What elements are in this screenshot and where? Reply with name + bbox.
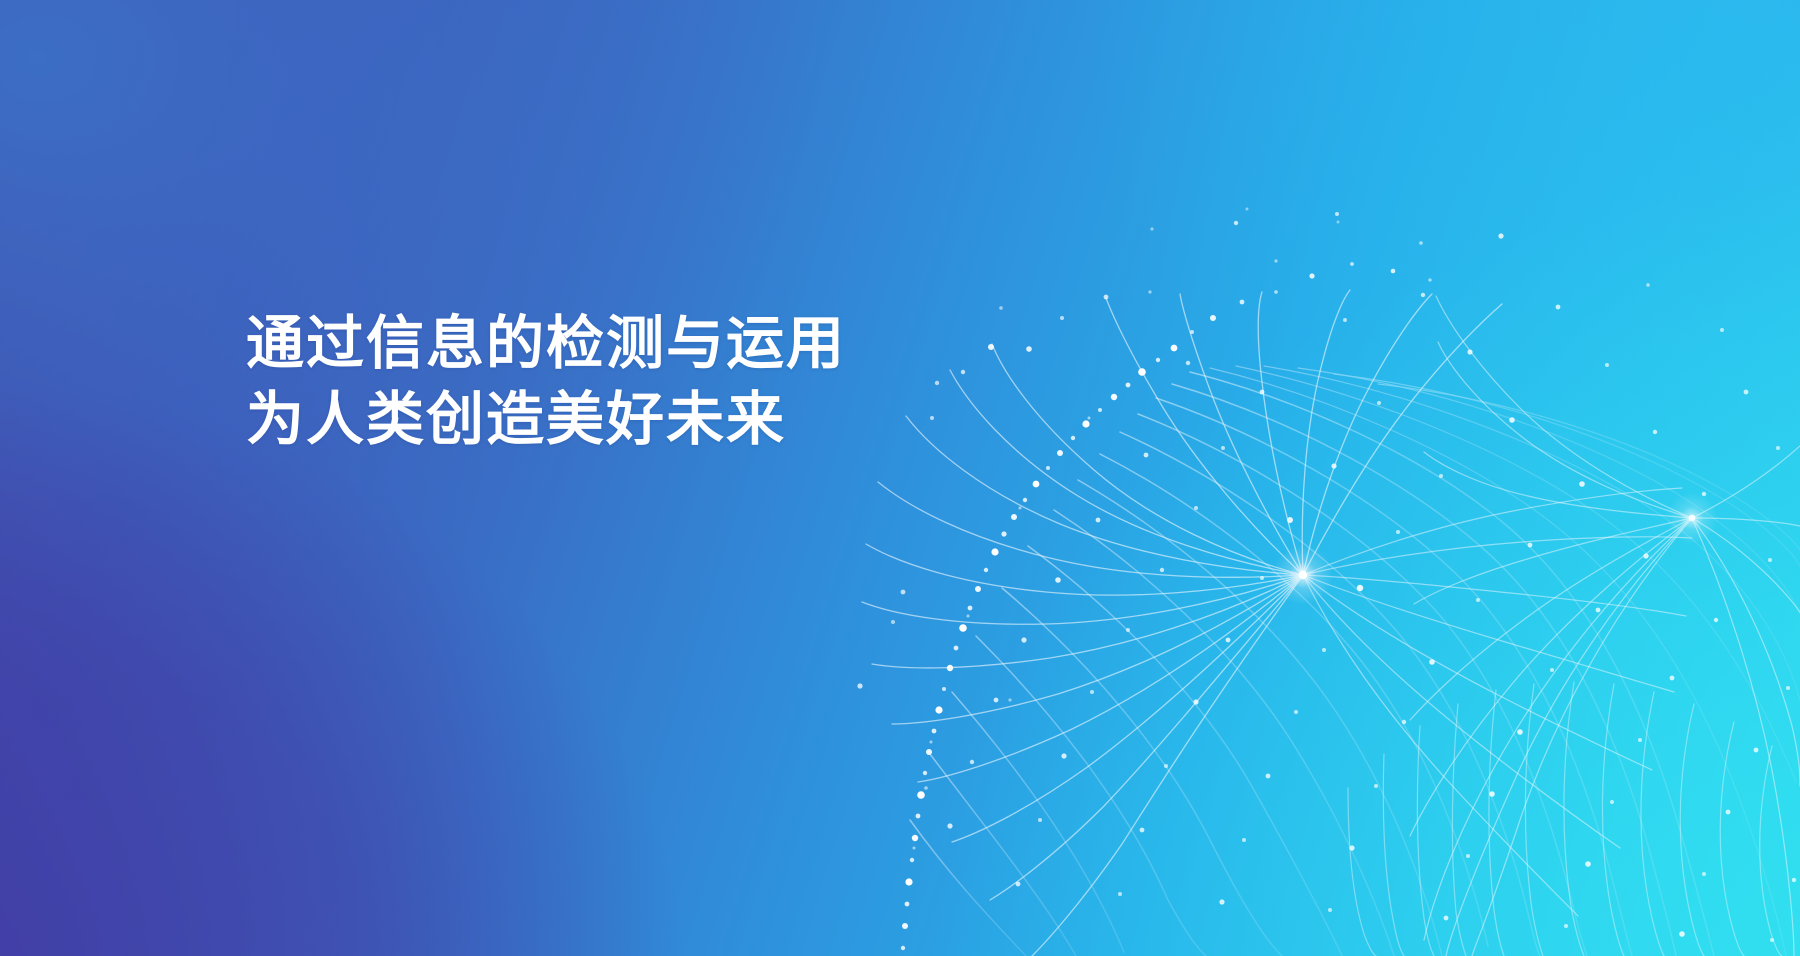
headline-line-2: 为人类创造美好未来: [246, 382, 846, 458]
background-glow-bottom-right: [0, 0, 1800, 956]
hero-banner: 通过信息的检测与运用 为人类创造美好未来: [0, 0, 1800, 956]
headline-line-1: 通过信息的检测与运用: [246, 306, 846, 382]
headline: 通过信息的检测与运用 为人类创造美好未来: [246, 306, 846, 458]
